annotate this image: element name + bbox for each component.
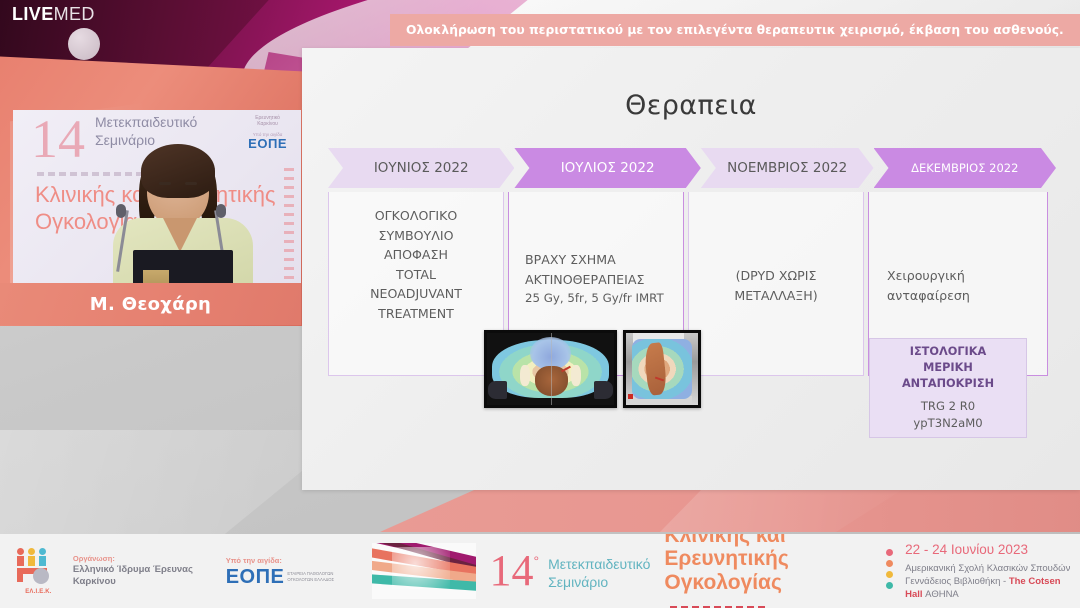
elek-label: ΕΛ.Ι.Ε.Κ. [12, 589, 65, 595]
livemed-logo-live: LIVE [12, 4, 54, 24]
timeline-period-1: ΙΟΥΝΙΟΣ 2022 [370, 160, 473, 176]
backdrop-dot-column [284, 168, 294, 288]
content-line: (DPYD ΧΩΡΙΣ [734, 266, 817, 286]
conference-footer: ΕΛ.Ι.Ε.Κ. Οργάνωση: Ελληνικό Ίδρυμα Έρευ… [0, 534, 1080, 608]
elek-bar-2 [28, 556, 35, 566]
aegis-block: Υπό την αιγίδα: ΕΟΠΕ ΕΤΑΙΡΕΙΑ ΠΑΘΟΛΟΓΩΝ … [226, 556, 355, 587]
timeline-period-4: ΔΕΚΕΜΒΡΙΟΣ 2022 [907, 161, 1022, 175]
backdrop-eope-logo: ΕΟΠΕ [248, 137, 287, 152]
speaker-eye-right [185, 182, 197, 185]
footer-dot-4 [886, 582, 893, 589]
content-line: ΒΡΑΧΥ ΣΧΗΜΑ [525, 250, 673, 270]
elek-bar-1 [17, 556, 24, 566]
microphone-head-left [116, 204, 126, 218]
timeline-content-1: ΟΓΚΟΛΟΓΙΚΟ ΣΥΜΒΟΥΛΙΟ ΑΠΟΦΑΣΗ TOTAL NEOAD… [328, 192, 504, 376]
footer-date-venue-block: 22 - 24 Ιουνίου 2023 Αμερικανική Σχολή Κ… [905, 541, 1080, 602]
content-line: ΑΠΟΦΑΣΗ [339, 245, 493, 265]
footer-seminar-line1: Μετεκπαιδευτικό [548, 556, 650, 574]
timeline-content-3: (DPYD ΧΩΡΙΣ ΜΕΤΑΛΛΑΞΗ) [688, 192, 864, 376]
ct-image-group [484, 330, 701, 408]
elek-mark-icon [15, 548, 61, 588]
timeline-period-2: ΙΟΥΛΙΟΣ 2022 [557, 160, 659, 176]
content-line: TOTAL [339, 265, 493, 285]
conference-dates: 22 - 24 Ιουνίου 2023 [905, 541, 1080, 559]
timeline-chevron-3: ΝΟΕΜΒΡΙΟΣ 2022 [701, 148, 874, 188]
slide-title: Θεραπεια [302, 90, 1080, 121]
timeline-period-3: ΝΟΕΜΒΡΙΟΣ 2022 [723, 160, 851, 176]
session-topic-banner: Ολοκλήρωση του περιστατικού με τον επιλε… [390, 14, 1080, 46]
content-block: (DPYD ΧΩΡΙΣ ΜΕΤΑΛΛΑΞΗ) [734, 266, 817, 305]
histology-heading: ΙΣΤΟΛΟΓΙΚΑ ΜΕΡΙΚΗ ΑΝΤΑΠΟΚΡΙΣΗ [902, 344, 994, 393]
venue-library: Γεννάδειος Βιβλιοθήκη - [905, 576, 1009, 587]
histology-heading-line1: ΙΣΤΟΛΟΓΙΚΑ [902, 344, 994, 360]
elek-bar-3 [39, 556, 46, 566]
content-line: ΣΥΜΒΟΥΛΙΟ [339, 226, 493, 246]
content-line: Χειρουργική [887, 266, 970, 286]
timeline-chevron-1: ΙΟΥΝΙΟΣ 2022 [328, 148, 514, 188]
background-circle-accent [68, 28, 100, 60]
eope-logo: ΕΟΠΕ [226, 567, 285, 587]
histology-heading-line3: ΑΝΤΑΠΟΚΡΙΣΗ [902, 376, 994, 392]
aegis-logo-row: ΕΟΠΕ ΕΤΑΙΡΕΙΑ ΠΑΘΟΛΟΓΩΝ ΟΓΚΟΛΟΓΩΝ ΕΛΛΑΔΟ… [226, 567, 355, 587]
edition-number: 14 [490, 552, 534, 591]
venue-line-1: Αμερικανική Σχολή Κλασικών Σπουδών [905, 563, 1080, 576]
footer-dot-2 [886, 560, 893, 567]
speaker-name: Μ. Θεοχάρη [90, 294, 211, 315]
footer-title-line2: Ογκολογίας [664, 571, 781, 594]
backdrop-seminar-line1: Μετεκπαιδευτικό [95, 114, 197, 132]
content-block: Χειρουργική ανταφαίρεση [887, 266, 970, 305]
footer-dot-3 [886, 571, 893, 578]
content-block: ΒΡΑΧΥ ΣΧΗΜΑ ΑΚΤΙΝΟΘΕΡΑΠΕΙΑΣ 25 Gy, 5fr, … [525, 206, 673, 307]
edition-number-block: 14 ° [490, 552, 540, 591]
axial-bone-left [520, 365, 530, 387]
elek-dot-2 [28, 548, 35, 555]
content-line: ΟΓΚΟΛΟΓΙΚΟ [339, 206, 493, 226]
content-line: TREATMENT [339, 304, 493, 324]
timeline-chevron-4: ΔΕΚΕΜΒΡΙΟΣ 2022 [874, 148, 1056, 188]
footer-seminar-label: Μετεκπαιδευτικό Σεμινάριο [548, 556, 650, 591]
aegis-label: Υπό την αιγίδα: [226, 556, 355, 565]
axial-air-right [594, 381, 613, 400]
session-topic-text: Ολοκλήρωση του περιστατικού με τον επιλε… [390, 23, 1064, 37]
histology-detail-line1: TRG 2 R0 [913, 398, 982, 415]
microphone-head-right [216, 204, 226, 218]
histology-details: TRG 2 R0 ypT3N2aM0 [913, 398, 982, 433]
footer-main-title: Κλινικής και Ερευνητικής Ογκολογίας [664, 534, 872, 608]
histology-detail-line2: ypT3N2aM0 [913, 415, 982, 432]
sagittal-pelvis-dose-image [623, 330, 701, 408]
backdrop-eope-top2: Καρκίνου [248, 122, 287, 128]
organizer-label: Οργάνωση: [73, 554, 210, 564]
edition-degree-symbol: ° [534, 554, 540, 568]
footer-dot-1 [886, 549, 893, 556]
timeline-chevron-row: ΙΟΥΝΙΟΣ 2022 ΙΟΥΛΙΟΣ 2022 ΝΟΕΜΒΡΙΟΣ 2022… [328, 148, 1056, 188]
sagittal-orientation-tag-icon [628, 394, 633, 399]
elek-stem [17, 568, 23, 582]
elek-circle [33, 568, 49, 584]
content-line: NEOADJUVANT [339, 284, 493, 304]
axial-crosshair-icon [551, 333, 552, 405]
axial-air-left [488, 381, 507, 400]
content-line: ΑΚΤΙΝΟΘΕΡΑΠΕΙΑΣ [525, 270, 673, 290]
livemed-logo-med: MED [54, 4, 95, 24]
speaker-name-band: Μ. Θεοχάρη [0, 283, 301, 325]
speaker-hair [141, 144, 215, 198]
footer-dot-separator [886, 549, 893, 593]
elek-logo: ΕΛ.Ι.Ε.Κ. [12, 548, 65, 595]
eope-logo-subtitle: ΕΤΑΙΡΕΙΑ ΠΑΘΟΛΟΓΩΝ ΟΓΚΟΛΟΓΩΝ ΕΛΛΑΔΟΣ [287, 571, 354, 582]
content-line: ΜΕΤΑΛΛΑΞΗ) [734, 286, 817, 306]
sagittal-image-canvas [626, 333, 698, 405]
organizer-name: Ελληνικό Ίδρυμα Έρευνας Καρκίνου [73, 564, 210, 589]
livemed-watermark: LIVEMED [12, 5, 95, 23]
histology-result-box: ΙΣΤΟΛΟΓΙΚΑ ΜΕΡΙΚΗ ΑΝΤΑΠΟΚΡΙΣΗ TRG 2 R0 y… [869, 338, 1027, 438]
ribbon-glow [392, 547, 450, 589]
footer-seminar-line2: Σεμινάριο [548, 574, 650, 592]
presentation-slide[interactable]: Θεραπεια ΙΟΥΝΙΟΣ 2022 ΙΟΥΛΙΟΣ 2022 ΝΟΕΜΒ… [302, 48, 1080, 490]
axial-bone-right [571, 365, 581, 387]
speaker-eye-left [159, 182, 171, 185]
timeline-chevron-2: ΙΟΥΛΙΟΣ 2022 [514, 148, 700, 188]
content-subline: 25 Gy, 5fr, 5 Gy/fr IMRT [525, 289, 673, 307]
organizer-block: Οργάνωση: Ελληνικό Ίδρυμα Έρευνας Καρκίν… [73, 554, 210, 588]
content-line: ανταφαίρεση [887, 286, 970, 306]
elek-dot-3 [39, 548, 46, 555]
axial-pelvis-dose-image [484, 330, 617, 408]
footer-title-line2-wrap: Ογκολογίας [664, 571, 872, 608]
backdrop-edition-number: 14 [31, 112, 85, 166]
axial-image-canvas [487, 333, 614, 405]
venue-line-2: Γεννάδειος Βιβλιοθήκη - The Cotsen Hall … [905, 576, 1080, 602]
histology-heading-line2: ΜΕΡΙΚΗ [902, 360, 994, 376]
backdrop-eope-block: Ερευνητικό Καρκίνου Υπό την αιγίδα ΕΟΠΕ [248, 116, 287, 152]
venue-city: ΑΘΗΝΑ [923, 589, 959, 600]
conference-ribbon-graphic [372, 543, 475, 599]
elek-dot-1 [17, 548, 24, 555]
footer-title-line1: Κλινικής και Ερευνητικής [664, 534, 872, 571]
